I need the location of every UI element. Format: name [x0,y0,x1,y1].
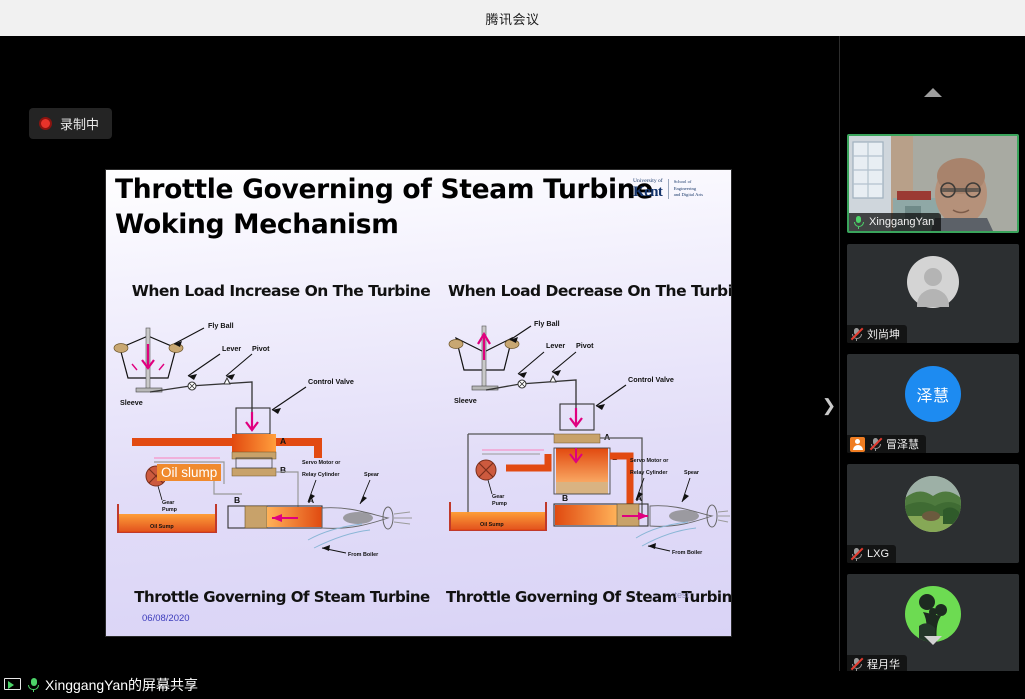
logo-divider [668,179,669,199]
label-pivot: Pivot [252,344,270,353]
label-lever: Lever [546,341,565,350]
logo-kent-wordmark: Kent [633,185,663,199]
logo-school-line-1: School of [674,179,703,186]
slide-title: Throttle Governing of Steam Turbine Woki… [115,173,655,243]
screen-share-label: XinggangYan的屏幕共享 [45,675,198,695]
logo-school-line-3: and Digital Arts [674,192,703,199]
recording-label: 录制中 [60,114,99,133]
microphone-muted-icon [850,327,863,341]
participant-name: 程月华 [867,656,900,672]
participant-tile-4[interactable]: 程月华 [847,574,1019,673]
university-of-kent-logo: University of Kent School of Engineering… [633,176,729,202]
slide-watermark: test [674,590,689,600]
scroll-down-button[interactable] [840,628,1025,652]
photo-avatar [905,476,961,532]
label-oil-sump: Oil Sump [150,524,174,530]
label-fly-ball: Fly Ball [208,321,234,330]
window-titlebar: 腾讯会议 [0,0,1025,36]
label-servo-2: Relay Cylinder [630,470,668,476]
microphone-icon [26,677,41,694]
record-dot-icon [39,117,52,130]
slide-title-area: Throttle Governing of Steam Turbine Woki… [115,173,723,243]
diagram-footer: Throttle Governing Of Steam Turbine [122,588,442,606]
label-pivot: Pivot [576,341,594,350]
diagram-load-increase: When Load Increase On The Turbine [112,282,432,612]
participant-tile-3[interactable]: LXG [847,464,1019,563]
label-spear: Spear [684,470,700,476]
slide-date: 06/08/2020 [142,613,190,624]
label-gear-pump-1: Gear [492,494,505,500]
default-avatar-icon [907,256,959,308]
diagram-left-graphic: Fly Ball Lever Pivot Sleeve Control Valv… [112,308,432,593]
participant-namebar: LXG [847,545,896,563]
label-gear-pump-2: Pump [492,501,508,507]
screen-share-statusbar: XinggangYan的屏幕共享 [0,671,1025,699]
label-servo-1: Servo Motor or [302,460,341,466]
diagram-load-decrease: When Load Decrease On The Turbine [446,282,731,612]
recording-indicator: 录制中 [29,108,112,139]
shared-screen-stage: 录制中 ❯ Throttle Governing of Steam Turbin… [0,36,838,671]
meeting-window: 腾讯会议 录制中 ❯ Throttle Governing of Steam T… [0,0,1025,699]
label-oil-sump: Oil Sump [480,522,504,528]
participant-tile-2[interactable]: 泽慧 冒泽慧 [847,354,1019,453]
port-label-b: B [280,465,286,475]
participant-namebar: XinggangYan [849,213,941,231]
scroll-up-button[interactable] [840,80,1025,104]
diagram-heading: When Load Increase On The Turbine [130,282,432,300]
host-badge-icon [850,437,865,452]
participant-namebar: 刘尚坤 [847,325,907,343]
participant-name: LXG [867,548,889,560]
label-control-valve: Control Valve [308,377,354,386]
port-label-a: A [280,436,286,446]
presentation-slide: Throttle Governing of Steam Turbine Woki… [105,169,732,637]
participant-namebar: 冒泽慧 [847,435,926,453]
participant-name: 刘尚坤 [867,326,900,342]
microphone-muted-icon [869,437,882,451]
microphone-muted-icon [850,547,863,561]
microphone-muted-icon [850,657,863,671]
port-label-b2: B [234,495,240,505]
label-servo-1: Servo Motor or [630,458,669,464]
window-title: 腾讯会议 [485,9,539,28]
diagram-heading: When Load Decrease On The Turbine [448,282,731,300]
participant-tile-1[interactable]: 刘尚坤 [847,244,1019,343]
port-label-b2: B [562,493,568,503]
label-sleeve: Sleeve [454,396,477,405]
label-from-boiler: From Boiler [348,552,379,558]
microphone-icon [852,215,865,229]
label-from-boiler: From Boiler [672,550,703,556]
label-spear: Spear [364,472,380,478]
label-control-valve: Control Valve [628,375,674,384]
label-gear-pump-2: Pump [162,507,178,513]
label-lever: Lever [222,344,241,353]
diagram-right-graphic: Fly Ball Lever Pivot Sleeve Control Valv… [446,308,731,593]
label-servo-2: Relay Cylinder [302,472,340,478]
screen-share-icon [4,678,22,693]
label-fly-ball: Fly Ball [534,319,560,328]
port-label-a: A [604,432,610,442]
participant-tile-0[interactable]: XinggangYan [847,134,1019,233]
initials-avatar: 泽慧 [905,366,961,422]
participant-name: 冒泽慧 [886,436,919,452]
triangle-down-icon [924,636,942,645]
oil-slump-highlight: Oil slump [157,464,221,481]
logo-school-line-2: Engineering [674,186,703,193]
triangle-up-icon [924,88,942,97]
participant-name: XinggangYan [869,216,934,228]
label-sleeve: Sleeve [120,398,143,407]
label-gear-pump-1: Gear [162,500,175,506]
participant-panel: XinggangYan 刘尚坤 泽慧 [839,36,1025,671]
collapse-panel-chevron-icon[interactable]: ❯ [820,394,838,418]
